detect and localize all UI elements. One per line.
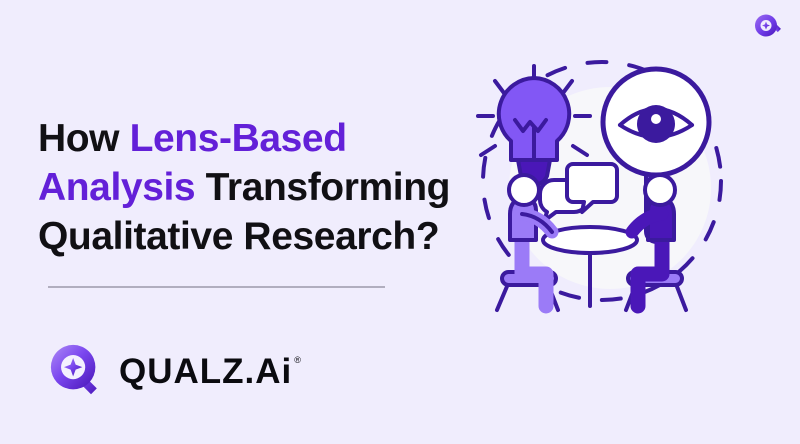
headline-segment-plain-2: Transforming	[195, 166, 450, 209]
banner-root: How Lens-Based Analysis Transforming Qua…	[0, 0, 800, 444]
qualz-q-magnifier-logo-icon	[48, 342, 106, 400]
qualz-q-watermark-icon	[752, 12, 782, 42]
qualz-wordmark: QUALZ.Ai ®	[119, 354, 302, 389]
page-title: How Lens-Based Analysis Transforming Qua…	[38, 114, 468, 261]
headline-segment-plain-3: Qualitative Research?	[38, 215, 439, 258]
headline-segment-accent-1: Lens-Based	[130, 117, 347, 160]
lens-based-qualitative-research-illustration	[470, 48, 740, 318]
qualz-wordmark-text: QUALZ.Ai	[119, 354, 292, 389]
headline-divider	[48, 286, 385, 288]
registered-trademark-symbol: ®	[294, 356, 302, 365]
headline-segment-accent-2: Analysis	[38, 166, 195, 209]
eye-highlight	[651, 114, 661, 124]
qualz-logo-lockup: QUALZ.Ai ®	[48, 342, 302, 400]
headline-segment-plain-1: How	[38, 117, 130, 160]
